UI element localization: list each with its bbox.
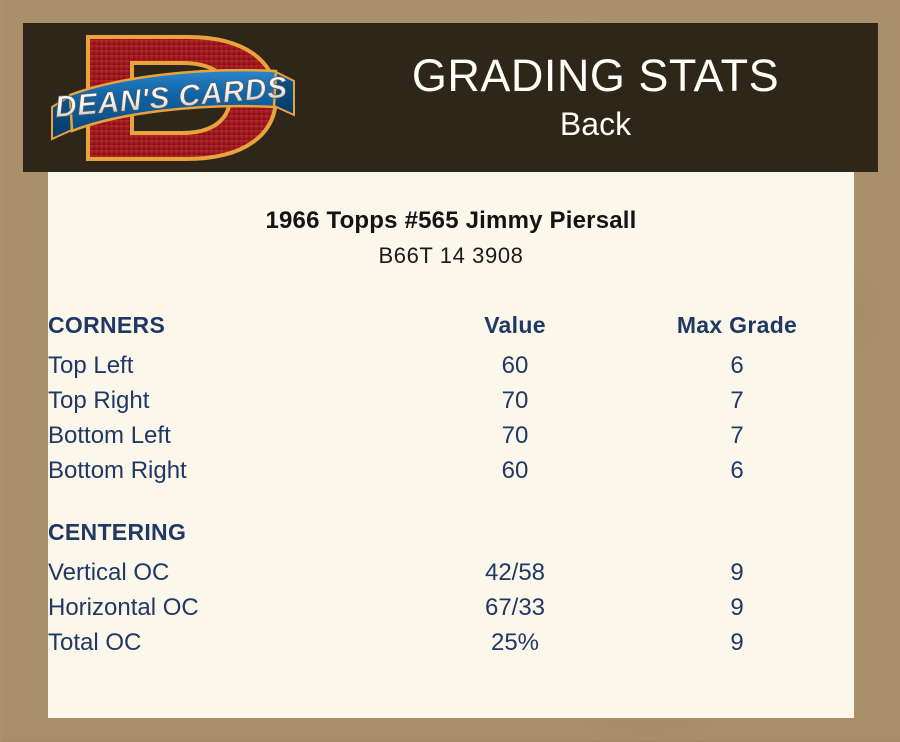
grading-stats-page: DEAN'S CARDS GRADING STATS Back 1966 Top… <box>0 0 900 742</box>
section-title: CORNERS <box>48 303 410 348</box>
stat-label: Top Right <box>48 383 410 418</box>
stat-max-grade: 6 <box>620 348 854 383</box>
page-subtitle: Back <box>560 106 631 143</box>
stat-row: Horizontal OC67/339 <box>48 590 854 625</box>
stat-value: 70 <box>410 418 620 453</box>
card-title: 1966 Topps #565 Jimmy Piersall <box>48 207 854 235</box>
stat-label: Vertical OC <box>48 555 410 590</box>
stat-row: Bottom Right606 <box>48 453 854 488</box>
grading-stats-table: CORNERSValueMax GradeTop Left606Top Righ… <box>48 303 854 660</box>
column-header-value <box>410 510 620 555</box>
stat-value: 60 <box>410 348 620 383</box>
section-header-row: CENTERING <box>48 510 854 555</box>
stat-row: Vertical OC42/589 <box>48 555 854 590</box>
stat-value: 70 <box>410 383 620 418</box>
stat-max-grade: 7 <box>620 418 854 453</box>
section-title: CENTERING <box>48 510 410 555</box>
stat-row: Total OC25%9 <box>48 625 854 660</box>
stat-label: Bottom Right <box>48 453 410 488</box>
page-title: GRADING STATS <box>412 52 779 99</box>
grading-stats-body: CORNERSValueMax GradeTop Left606Top Righ… <box>48 303 854 660</box>
stat-max-grade: 7 <box>620 383 854 418</box>
column-header-max-grade <box>620 510 854 555</box>
header-bar: DEAN'S CARDS GRADING STATS Back <box>23 23 878 172</box>
stat-max-grade: 9 <box>620 555 854 590</box>
section-header-row: CORNERSValueMax Grade <box>48 303 854 348</box>
stat-value: 25% <box>410 625 620 660</box>
deans-cards-logo: DEAN'S CARDS <box>48 25 298 170</box>
stat-value: 60 <box>410 453 620 488</box>
stat-label: Horizontal OC <box>48 590 410 625</box>
stat-label: Bottom Left <box>48 418 410 453</box>
stat-label: Total OC <box>48 625 410 660</box>
stat-max-grade: 6 <box>620 453 854 488</box>
column-header-value: Value <box>410 303 620 348</box>
header-title-group: GRADING STATS Back <box>313 23 878 172</box>
stat-max-grade: 9 <box>620 625 854 660</box>
stat-row: Bottom Left707 <box>48 418 854 453</box>
stat-row: Top Left606 <box>48 348 854 383</box>
section-spacer <box>48 488 854 510</box>
stat-label: Top Left <box>48 348 410 383</box>
stat-value: 67/33 <box>410 590 620 625</box>
content-sheet: 1966 Topps #565 Jimmy Piersall B66T 14 3… <box>48 172 854 718</box>
card-serial-number: B66T 14 3908 <box>48 243 854 269</box>
stat-value: 42/58 <box>410 555 620 590</box>
stat-row: Top Right707 <box>48 383 854 418</box>
column-header-max-grade: Max Grade <box>620 303 854 348</box>
stat-max-grade: 9 <box>620 590 854 625</box>
